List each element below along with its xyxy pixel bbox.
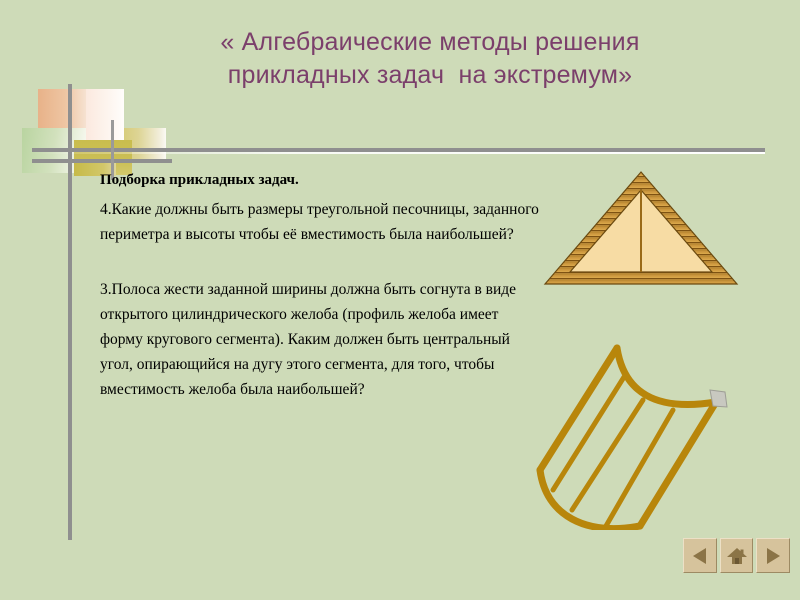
trough-far-rim — [617, 348, 716, 405]
trough-end-cap — [710, 390, 727, 407]
trough-ruling-line-3 — [606, 410, 673, 526]
task-item-4: 4.Какие должны быть размеры треугольной … — [100, 197, 540, 247]
slide-body: Подборка прикладных задач. 4.Какие должн… — [100, 169, 540, 402]
decor-vertical-rule — [68, 84, 72, 540]
forward-button[interactable] — [756, 538, 790, 573]
home-icon — [726, 546, 748, 566]
slide-canvas: « Алгебраические методы решения прикладн… — [0, 0, 800, 600]
navigation-buttons — [683, 538, 790, 573]
decor-white-gradient-block — [86, 89, 124, 141]
back-arrow-icon — [690, 547, 710, 565]
home-button[interactable] — [720, 538, 754, 573]
forward-arrow-icon — [763, 547, 783, 565]
cylindrical-trough-figure — [520, 330, 745, 530]
slide-title-line-2: прикладных задач на экстремум» — [120, 59, 740, 92]
task-item-3: 3.Полоса жести заданной ширины должна бы… — [100, 277, 540, 402]
decor-horizontal-rule-bottom — [32, 159, 172, 163]
tasks-heading: Подборка прикладных задач. — [100, 169, 540, 191]
slide-title: « Алгебраические методы решения прикладн… — [120, 26, 740, 92]
decor-horizontal-rule-highlight — [32, 152, 765, 154]
back-button[interactable] — [683, 538, 717, 573]
slide-title-line-1: « Алгебраические методы решения — [120, 26, 740, 59]
trough-ruling-line-2 — [572, 400, 643, 510]
triangular-sandbox-figure — [543, 170, 739, 288]
trough-right-edge — [640, 402, 716, 526]
